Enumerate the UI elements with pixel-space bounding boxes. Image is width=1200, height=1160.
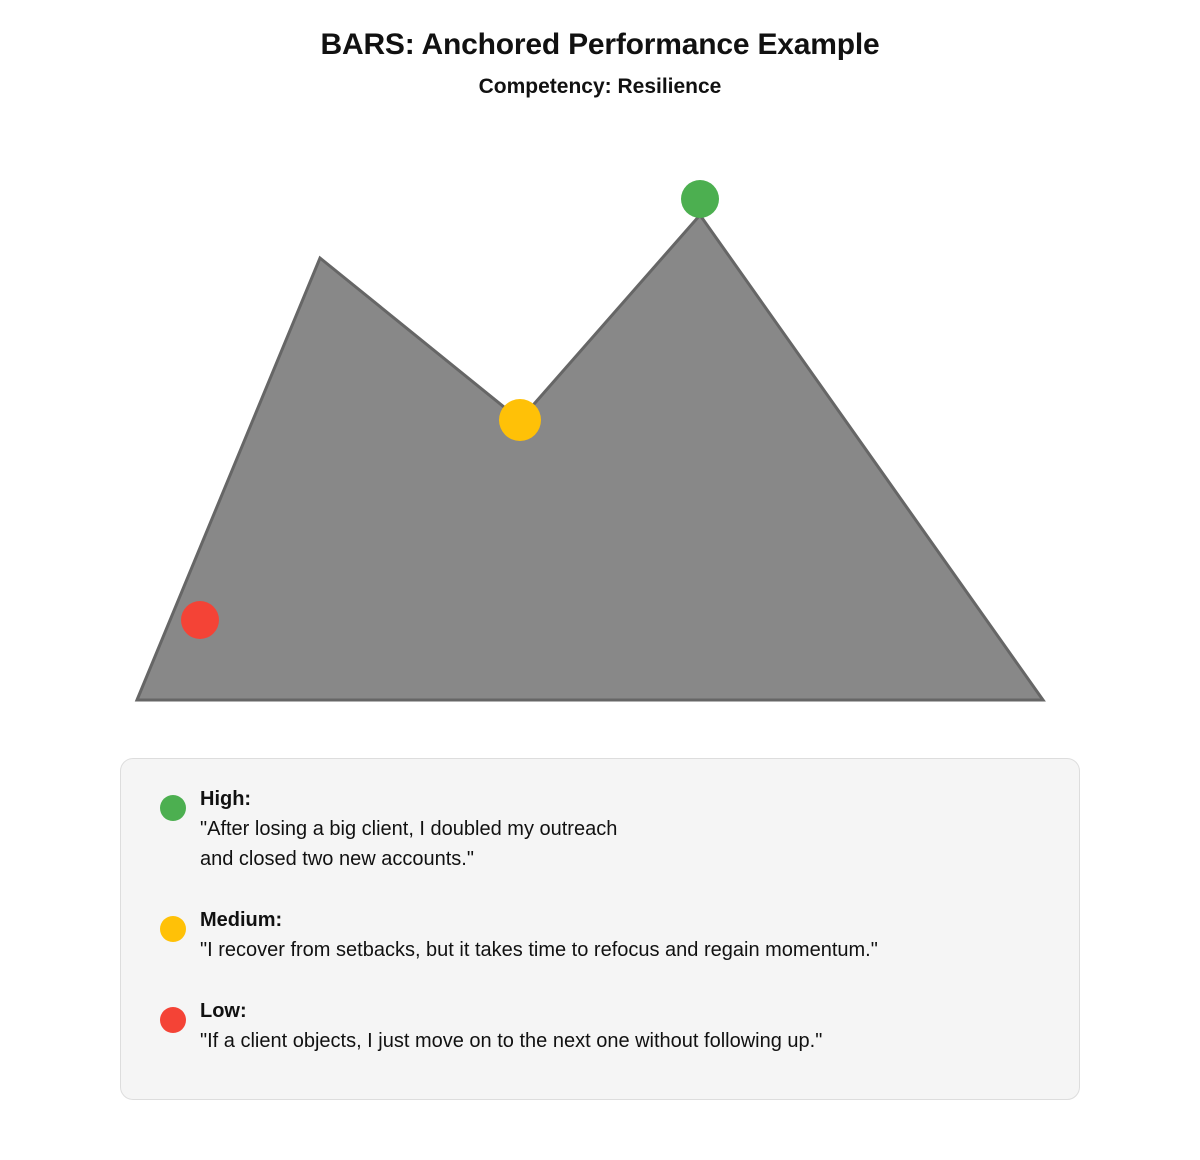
legend-label-high: High:	[200, 785, 1049, 814]
high-anchor-marker[interactable]	[681, 180, 719, 218]
legend-label-low: Low:	[200, 997, 1049, 1026]
page-subtitle: Competency: Resilience	[0, 75, 1200, 99]
medium-anchor-marker[interactable]	[499, 399, 541, 441]
legend-item-medium: Medium: "I recover from setbacks, but it…	[145, 906, 1049, 965]
chart-canvas	[0, 120, 1200, 740]
low-anchor-dot-icon	[160, 1007, 186, 1033]
low-anchor-marker[interactable]	[181, 601, 219, 639]
high-anchor-dot-icon	[160, 795, 186, 821]
legend-item-high: High: "After losing a big client, I doub…	[145, 785, 1049, 874]
page-title: BARS: Anchored Performance Example	[0, 28, 1200, 63]
legend-quote-low: "If a client objects, I just move on to …	[200, 1026, 1049, 1056]
legend-quote-medium: "I recover from setbacks, but it takes t…	[200, 935, 1049, 965]
legend-text-medium: Medium: "I recover from setbacks, but it…	[200, 906, 1049, 965]
chart-header: BARS: Anchored Performance Example Compe…	[0, 0, 1200, 99]
legend-label-medium: Medium:	[200, 906, 1049, 935]
performance-chart	[0, 120, 1200, 740]
anchor-legend-panel: High: "After losing a big client, I doub…	[120, 758, 1080, 1100]
legend-text-high: High: "After losing a big client, I doub…	[200, 785, 1049, 874]
legend-text-low: Low: "If a client objects, I just move o…	[200, 997, 1049, 1056]
legend-item-low: Low: "If a client objects, I just move o…	[145, 997, 1049, 1056]
performance-profile-shape	[137, 215, 1043, 700]
legend-quote-high: "After losing a big client, I doubled my…	[200, 814, 1049, 874]
medium-anchor-dot-icon	[160, 916, 186, 942]
